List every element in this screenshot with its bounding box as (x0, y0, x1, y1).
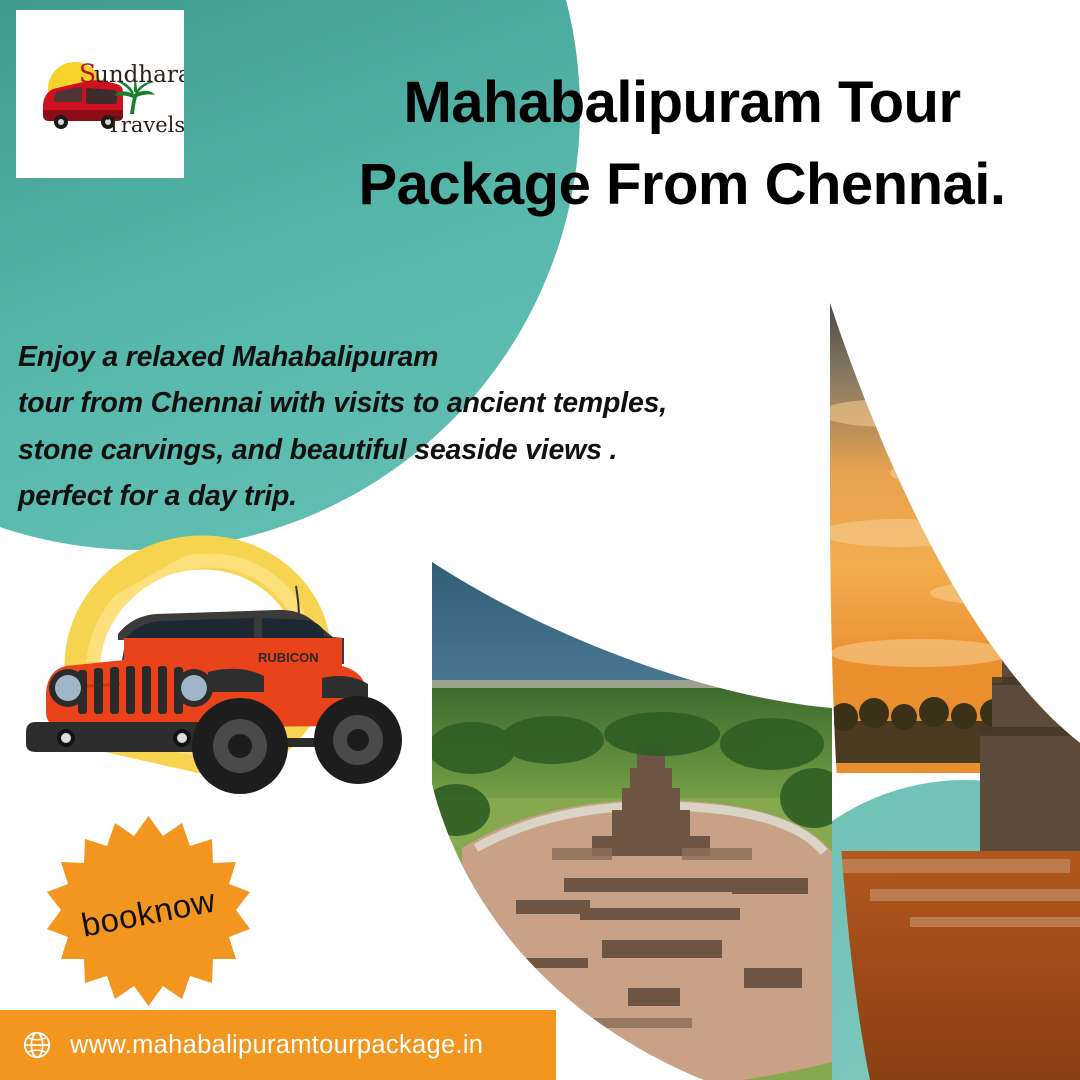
temple-aerial-illustration (432, 548, 832, 1080)
poster-canvas: S undhara Travels Mahabalipuram Tour Pac… (0, 0, 1080, 1080)
page-title: Mahabalipuram Tour Package From Chennai. (322, 62, 1042, 227)
sundhara-travels-logo-icon: S undhara Travels (16, 10, 184, 178)
description-line-4: perfect for a day trip. (18, 473, 818, 519)
headline-line-2: Package From Chennai. (322, 144, 1042, 226)
svg-text:RUBICON: RUBICON (258, 650, 319, 665)
temple-aerial-image (432, 548, 832, 1080)
shore-temple-sunset-image (830, 303, 1080, 1080)
jeep-wrangler-icon: RUBICON (22, 566, 402, 800)
book-now-label: booknow (29, 796, 268, 1029)
description-line-2: tour from Chennai with visits to ancient… (18, 380, 818, 426)
globe-icon (22, 1030, 52, 1060)
description-line-3: stone carvings, and beautiful seaside vi… (18, 427, 818, 473)
description-line-1: Enjoy a relaxed Mahabalipuram (18, 334, 818, 380)
svg-text:Travels: Travels (107, 113, 184, 137)
description-text: Enjoy a relaxed Mahabalipuram tour from … (18, 334, 818, 520)
brand-logo: S undhara Travels (16, 10, 184, 178)
svg-text:undhara: undhara (94, 62, 184, 88)
vehicle-image: RUBICON (22, 528, 402, 800)
headline-line-1: Mahabalipuram Tour (322, 62, 1042, 144)
book-now-button[interactable]: booknow (46, 814, 251, 1012)
shore-temple-illustration (830, 303, 1080, 1080)
website-url[interactable]: www.mahabalipuramtourpackage.in (70, 1031, 483, 1060)
website-footer-bar: www.mahabalipuramtourpackage.in (0, 1010, 556, 1080)
